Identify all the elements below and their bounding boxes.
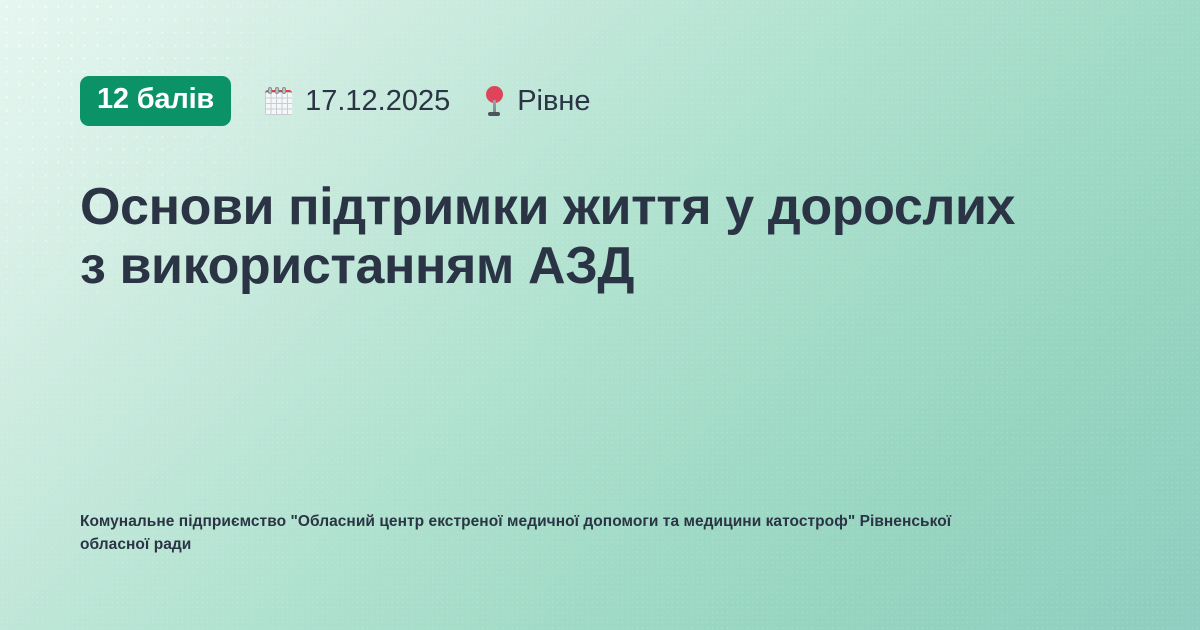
event-date-label: 17.12.2025 <box>305 87 450 116</box>
event-location-label: Рівне <box>517 87 590 116</box>
calendar-icon <box>265 87 292 115</box>
event-title: Основи підтримки життя у дорослих з вико… <box>80 178 1120 297</box>
event-location: Рівне <box>484 86 590 116</box>
event-title-line-2: з використанням АЗД <box>80 237 1120 296</box>
event-card: 12 балів 17.12.2025 Рівне <box>0 0 1200 630</box>
event-date: 17.12.2025 <box>265 87 450 116</box>
event-title-line-1: Основи підтримки життя у дорослих <box>80 178 1120 237</box>
card-content: 12 балів 17.12.2025 Рівне <box>80 78 1120 630</box>
meta-row: 12 балів 17.12.2025 Рівне <box>80 78 1120 124</box>
location-pin-icon <box>484 86 504 116</box>
points-badge: 12 балів <box>80 76 231 126</box>
